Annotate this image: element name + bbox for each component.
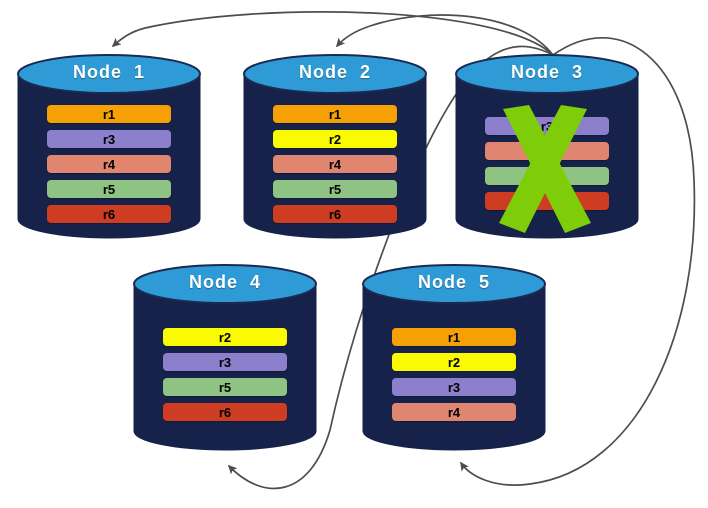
- replica-bar[interactable]: r4: [47, 155, 171, 173]
- node-title-1: Node 1: [17, 62, 201, 83]
- node-title-4: Node 4: [133, 272, 317, 293]
- replica-label: r3: [448, 380, 460, 395]
- replica-label: r5: [103, 182, 115, 197]
- replica-bar[interactable]: r4: [392, 403, 516, 421]
- replica-bar[interactable]: [485, 142, 609, 160]
- database-node-1[interactable]: Node 1r1r3r4r5r6: [17, 55, 201, 238]
- replica-label: r3: [219, 355, 231, 370]
- replica-label: r1: [329, 107, 341, 122]
- replica-label: r6: [103, 207, 115, 222]
- replica-label: r5: [219, 380, 231, 395]
- node-title-5: Node 5: [362, 272, 546, 293]
- replica-list: r1r3r4r5r6: [17, 105, 201, 223]
- replica-list: r3: [455, 117, 639, 210]
- replica-bar[interactable]: r2: [392, 353, 516, 371]
- replica-bar[interactable]: r1: [392, 328, 516, 346]
- replica-bar[interactable]: r5: [163, 378, 287, 396]
- replica-label: r1: [448, 330, 460, 345]
- replica-label: r2: [448, 355, 460, 370]
- replica-label: r4: [329, 157, 341, 172]
- arrow-to-node-1: [113, 12, 553, 55]
- replica-bar[interactable]: r2: [273, 130, 397, 148]
- diagram-canvas: Node 1r1r3r4r5r6Node 2r1r2r4r5r6Node 3r3…: [0, 0, 708, 508]
- replica-bar[interactable]: r4: [273, 155, 397, 173]
- replica-bar[interactable]: r6: [47, 205, 171, 223]
- replica-bar[interactable]: r3: [47, 130, 171, 148]
- replica-label: r6: [329, 207, 341, 222]
- replica-label: r1: [103, 107, 115, 122]
- replica-label: r2: [219, 330, 231, 345]
- replica-bar[interactable]: r5: [47, 180, 171, 198]
- replica-bar[interactable]: [485, 192, 609, 210]
- replica-label: r6: [219, 405, 231, 420]
- replica-bar[interactable]: r3: [163, 353, 287, 371]
- replica-list: r1r2r4r5r6: [243, 105, 427, 223]
- replica-label: r4: [448, 405, 460, 420]
- replica-bar[interactable]: r1: [273, 105, 397, 123]
- database-node-2[interactable]: Node 2r1r2r4r5r6: [243, 55, 427, 238]
- replica-label: r4: [103, 157, 115, 172]
- replica-label: r3: [103, 132, 115, 147]
- replica-list: r2r3r5r6: [133, 328, 317, 421]
- database-node-4[interactable]: Node 4r2r3r5r6: [133, 265, 317, 450]
- replica-bar[interactable]: r6: [163, 403, 287, 421]
- replica-bar[interactable]: [485, 167, 609, 185]
- replica-bar[interactable]: r5: [273, 180, 397, 198]
- node-title-2: Node 2: [243, 62, 427, 83]
- node-title-3: Node 3: [455, 62, 639, 83]
- replica-list: r1r2r3r4: [362, 328, 546, 421]
- replica-label: r3: [541, 119, 553, 134]
- replica-bar[interactable]: r6: [273, 205, 397, 223]
- replica-bar[interactable]: r3: [392, 378, 516, 396]
- arrow-to-node-2: [337, 15, 553, 55]
- database-node-5[interactable]: Node 5r1r2r3r4: [362, 265, 546, 450]
- replica-bar[interactable]: r2: [163, 328, 287, 346]
- database-node-3[interactable]: Node 3r3: [455, 55, 639, 238]
- replica-label: r2: [329, 132, 341, 147]
- replica-label: r5: [329, 182, 341, 197]
- replica-bar[interactable]: r1: [47, 105, 171, 123]
- replica-bar[interactable]: r3: [485, 117, 609, 135]
